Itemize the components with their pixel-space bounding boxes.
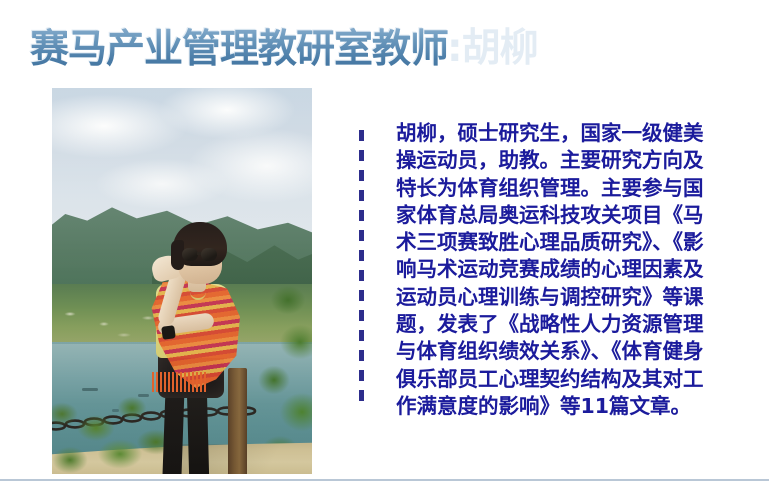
photo-sunglass-lens-left	[182, 248, 198, 261]
photo-shawl-fringe	[152, 372, 206, 392]
slide-canvas: 赛马产业管理教研室教师:胡柳 赛马产业管理教研室教师:胡柳	[0, 0, 769, 481]
photo-sunglasses	[182, 248, 220, 261]
bio-paragraph: 胡柳，硕士研究生，国家一级健美操运动员，助教。主要研究方向及特长为体育组织管理。…	[396, 120, 708, 420]
vertical-dashed-divider	[359, 130, 364, 410]
portrait-photo	[52, 88, 312, 474]
photo-wristwatch	[161, 325, 176, 340]
page-title: 赛马产业管理教研室教师:胡柳	[30, 24, 450, 80]
photo-wooden-post	[228, 368, 247, 474]
photo-sunglass-lens-right	[201, 248, 217, 261]
